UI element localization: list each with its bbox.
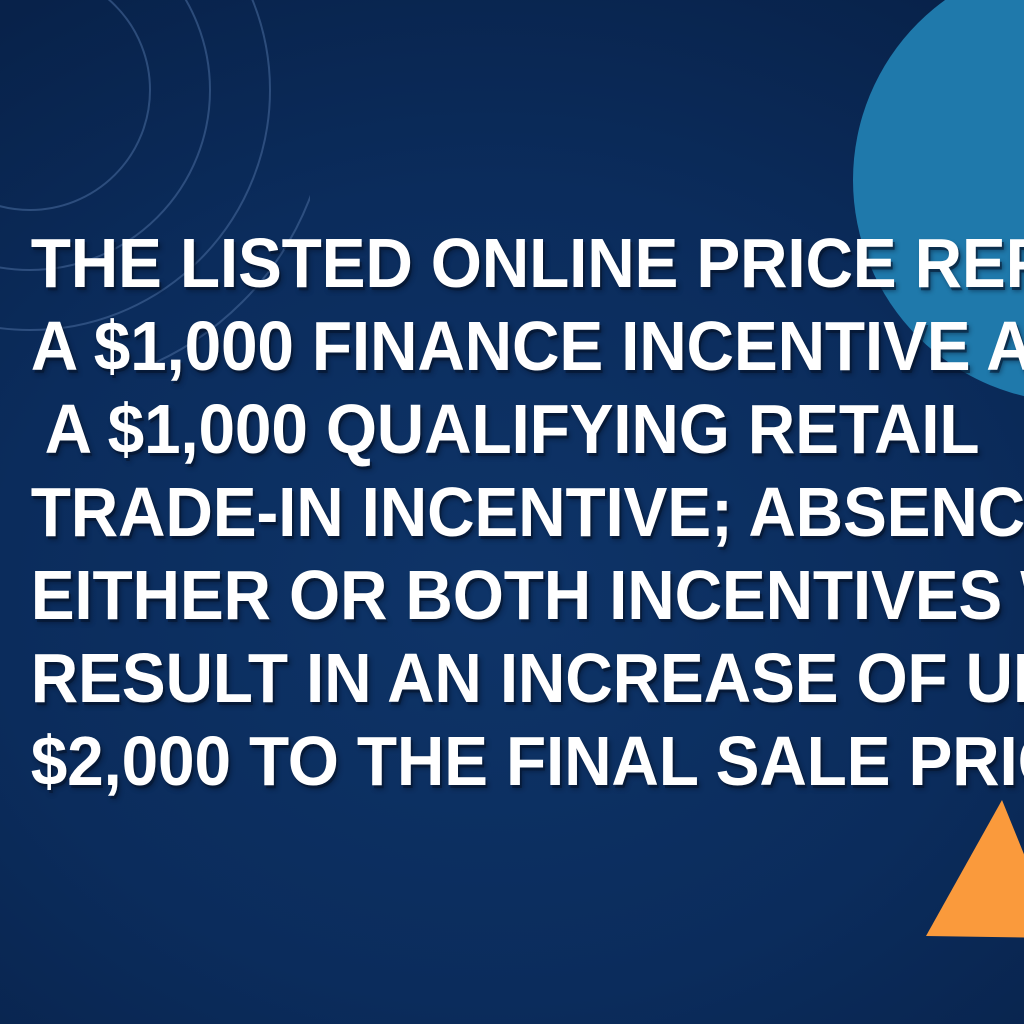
headline-line-6: RESULT IN AN INCREASE OF UP TO: [31, 637, 994, 720]
headline-line-1: THE LISTED ONLINE PRICE REFLECTS: [31, 222, 994, 305]
headline-line-2: A $1,000 FINANCE INCENTIVE AND: [31, 305, 994, 388]
headline-line-5: EITHER OR BOTH INCENTIVES WILL: [31, 554, 994, 637]
disclaimer-headline: THE LISTED ONLINE PRICE REFLECTS A $1,00…: [0, 222, 1024, 803]
disclaimer-poster: THE LISTED ONLINE PRICE REFLECTS A $1,00…: [0, 0, 1024, 1024]
headline-line-3: A $1,000 QUALIFYING RETAIL: [31, 388, 994, 471]
headline-line-4: TRADE-IN INCENTIVE; ABSENCE OF: [31, 471, 994, 554]
headline-line-7: $2,000 TO THE FINAL SALE PRICE.: [31, 720, 994, 803]
orange-triangle-accent: [918, 800, 1024, 938]
